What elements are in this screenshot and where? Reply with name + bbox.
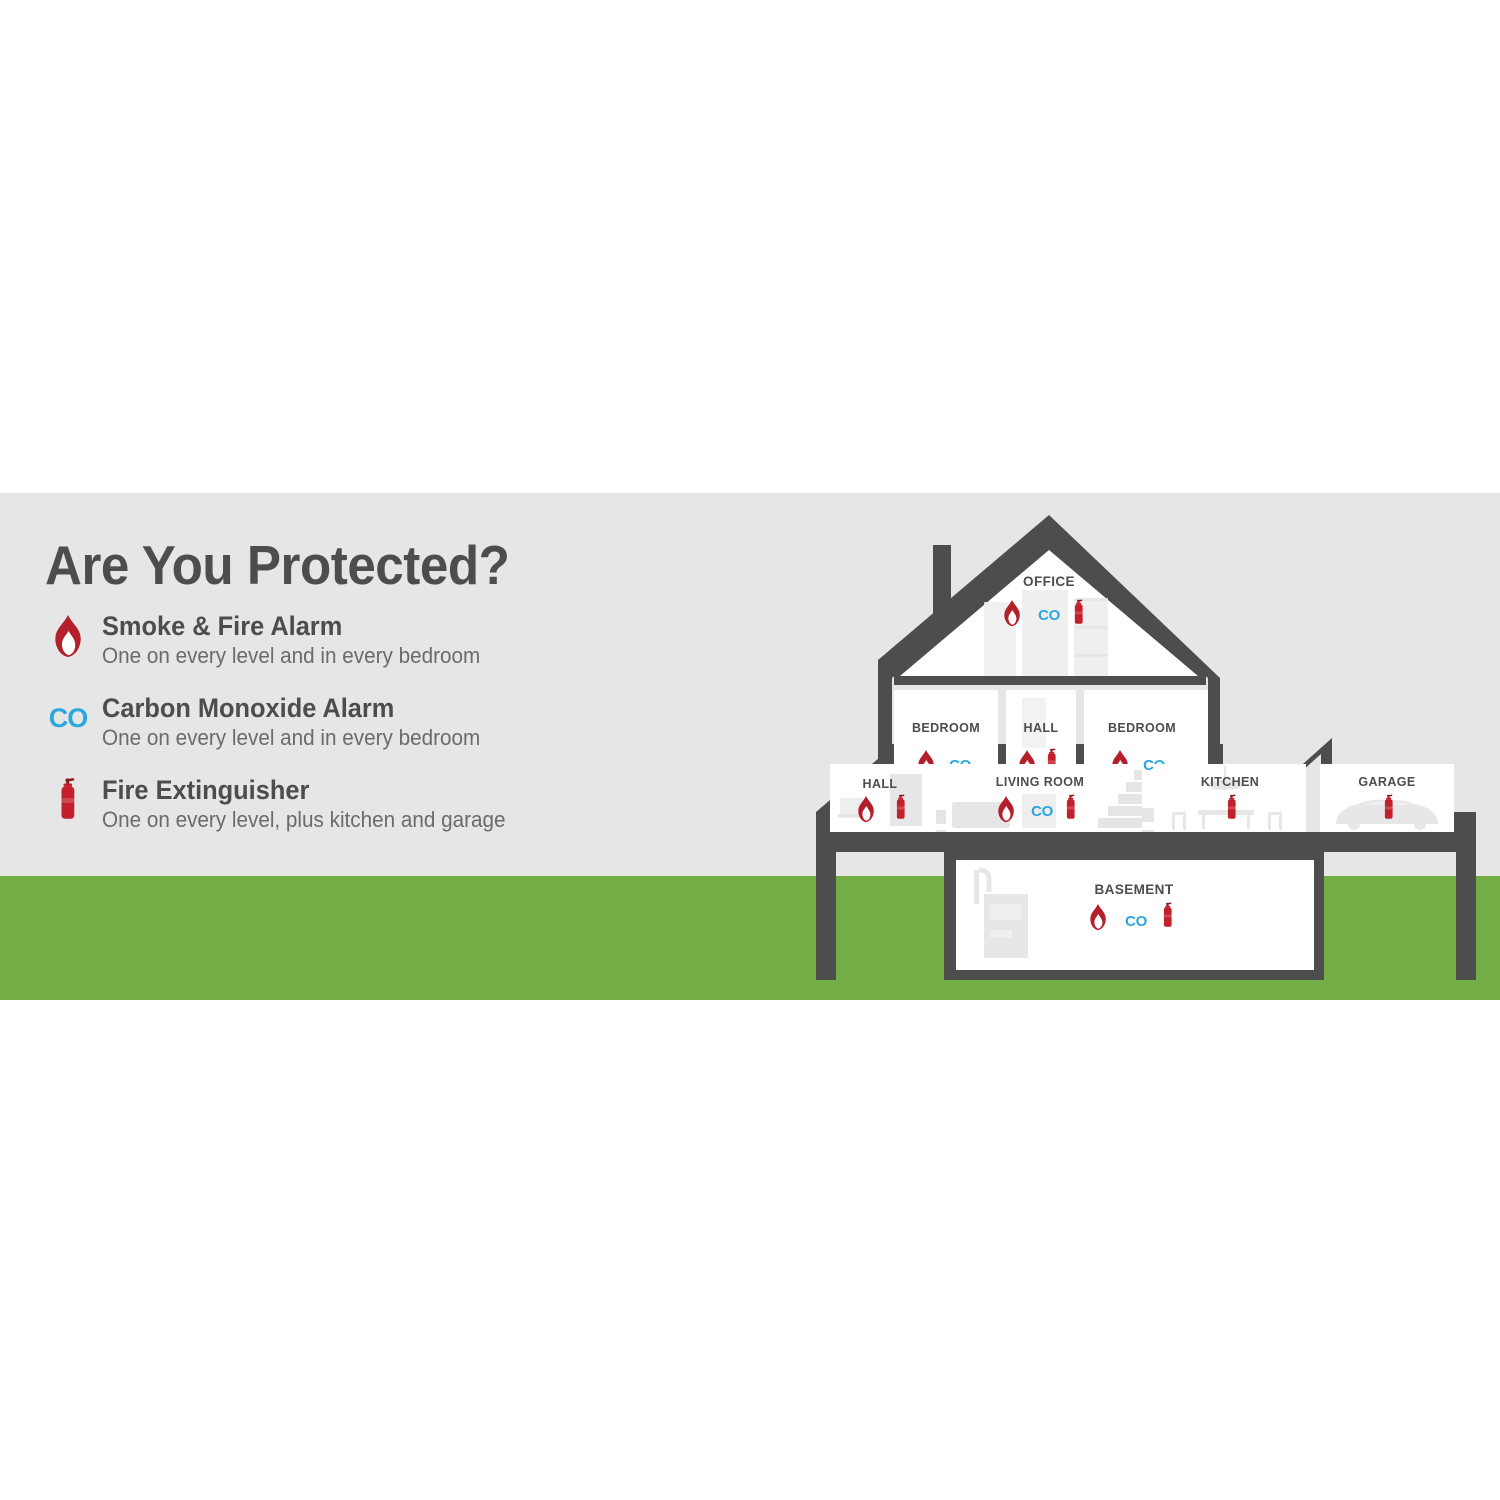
room-garage: GARAGE <box>1320 764 1454 832</box>
room-living-room: LIVING ROOM CO <box>946 764 1142 832</box>
legend-item-title: Fire Extinguisher <box>102 775 725 805</box>
room-label: BEDROOM <box>1108 721 1176 735</box>
page-title: Are You Protected? <box>45 535 715 595</box>
room-label: LIVING ROOM <box>996 775 1084 789</box>
legend-item-carbon-monoxide-alarm: CO Carbon Monoxide Alarm One on every le… <box>45 693 765 751</box>
room-co-tag: CO <box>1031 803 1053 820</box>
copy-block: Are You Protected? Smoke & Fire Alarm On… <box>45 535 765 857</box>
room-co-tag: CO <box>1125 913 1147 930</box>
legend-item-subtitle: One on every level and in every bedroom <box>102 724 725 751</box>
room-kitchen: KITCHEN <box>1154 764 1306 832</box>
fire-extinguisher-icon <box>45 777 91 823</box>
legend-item-title: Carbon Monoxide Alarm <box>102 693 725 723</box>
room-label: GARAGE <box>1358 775 1415 789</box>
legend-list: Smoke & Fire Alarm One on every level an… <box>45 611 765 833</box>
co-icon-label: CO <box>49 705 88 732</box>
flame-icon <box>45 613 91 659</box>
room-label: BEDROOM <box>912 721 980 735</box>
legend-item-smoke-fire-alarm: Smoke & Fire Alarm One on every level an… <box>45 611 765 669</box>
legend-item-subtitle: One on every level and in every bedroom <box>102 642 725 669</box>
legend-item-fire-extinguisher: Fire Extinguisher One on every level, pl… <box>45 775 765 833</box>
room-basement: BASEMENT CO <box>956 860 1314 970</box>
legend-item-subtitle: One on every level, plus kitchen and gar… <box>102 806 725 833</box>
room-hall-lower: HALL <box>830 764 936 832</box>
infographic-root: Are You Protected? Smoke & Fire Alarm On… <box>0 0 1500 1500</box>
room-label: HALL <box>1024 721 1059 735</box>
ground-floor-slab <box>830 832 1470 852</box>
room-label: BASEMENT <box>1095 882 1174 897</box>
house-cutaway-diagram: OFFICE CO BEDROOM CO <box>816 502 1481 980</box>
legend-item-title: Smoke & Fire Alarm <box>102 611 725 641</box>
room-label: OFFICE <box>1023 574 1075 589</box>
co-icon: CO <box>45 695 91 741</box>
room-label: KITCHEN <box>1201 775 1259 789</box>
room-co-tag: CO <box>1038 607 1060 624</box>
room-label: HALL <box>863 777 898 791</box>
